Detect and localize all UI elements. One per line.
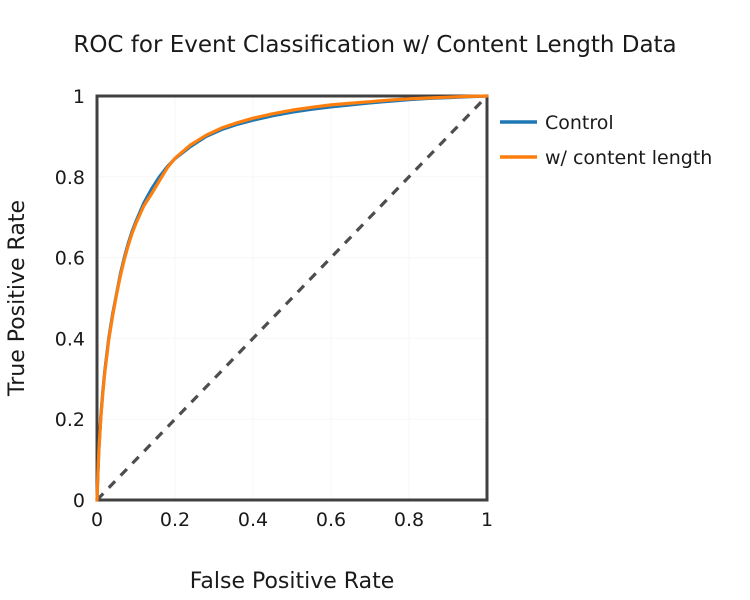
legend-label-1: w/ content length	[545, 147, 712, 169]
x-tick-label: 0.4	[238, 509, 268, 531]
x-tick-label: 0	[91, 509, 103, 531]
y-tick-label: 0.4	[55, 328, 85, 350]
x-tick-label: 0.2	[160, 509, 190, 531]
x-axis-label: False Positive Rate	[190, 569, 394, 594]
x-tick-label: 1	[481, 509, 493, 531]
x-axis-tick-labels: 00.20.40.60.81	[91, 509, 493, 531]
chart-canvas: ROC for Event Classification w/ Content …	[0, 0, 750, 600]
y-axis-label: True Positive Rate	[5, 200, 30, 397]
legend-label-0: Control	[545, 112, 614, 134]
roc-chart-figure: ROC for Event Classification w/ Content …	[0, 0, 750, 600]
chart-legend: Controlw/ content length	[500, 112, 712, 169]
x-tick-label: 0.6	[316, 509, 346, 531]
chart-title: ROC for Event Classification w/ Content …	[73, 32, 676, 58]
y-tick-label: 1	[73, 86, 85, 108]
y-tick-label: 0.2	[55, 409, 85, 431]
chance-diagonal	[97, 96, 487, 500]
y-tick-label: 0.8	[55, 167, 85, 189]
y-tick-label: 0.6	[55, 248, 85, 270]
y-tick-label: 0	[73, 490, 85, 512]
x-tick-label: 0.8	[394, 509, 424, 531]
chance-diagonal-line	[97, 96, 487, 500]
y-axis-tick-labels: 00.20.40.60.81	[55, 86, 85, 512]
